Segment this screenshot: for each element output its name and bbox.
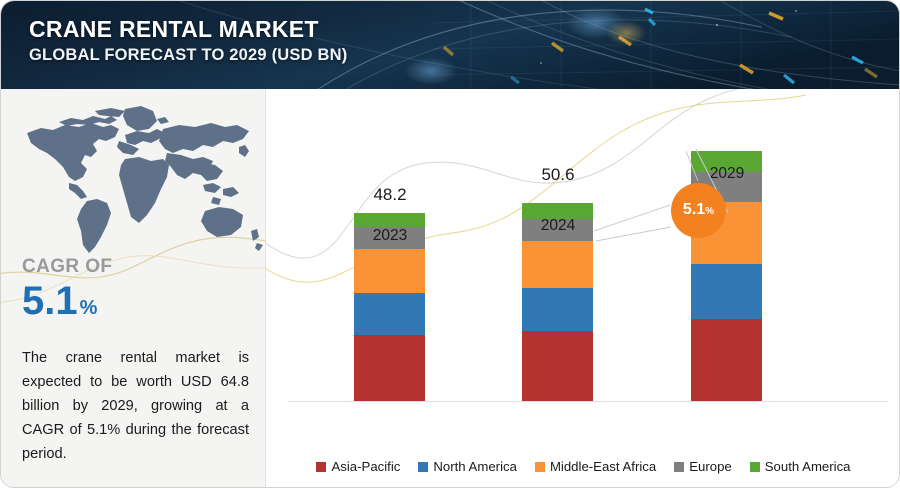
legend-item-north-america[interactable]: North America: [418, 459, 517, 474]
cagr-bubble-value: 5.1: [683, 201, 705, 218]
chart-legend: Asia-Pacific North America Middle-East A…: [266, 459, 900, 474]
legend-swatch-middle-east-africa: [535, 462, 545, 472]
legend-swatch-asia-pacific: [316, 462, 326, 472]
header-banner: CRANE RENTAL MARKET GLOBAL FORECAST TO 2…: [1, 1, 900, 89]
cagr-bubble-unit: %: [705, 206, 714, 217]
cagr-label: CAGR OF: [22, 256, 112, 278]
cagr-value-row: 5.1 %: [22, 279, 112, 323]
bar-segment-middle-east-africa-2024[interactable]: [522, 241, 593, 288]
legend-swatch-south-america: [750, 462, 760, 472]
infographic-frame: CRANE RENTAL MARKET GLOBAL FORECAST TO 2…: [0, 0, 900, 488]
bar-group-2024[interactable]: 50.6 2024: [522, 203, 593, 401]
legend-swatch-north-america: [418, 462, 428, 472]
bar-total-label-2024: 50.6: [503, 165, 613, 185]
cagr-value: 5.1: [22, 279, 78, 323]
bar-segment-asia-pacific-2023[interactable]: [354, 335, 425, 401]
cagr-bubble[interactable]: 5.1%: [671, 183, 726, 238]
x-axis-label-2024: 2024: [493, 217, 623, 235]
cagr-unit: %: [80, 297, 98, 320]
bar-segment-north-america-2023[interactable]: [354, 293, 425, 335]
legend-label-asia-pacific: Asia-Pacific: [331, 459, 400, 474]
legend-swatch-europe: [674, 462, 684, 472]
page-subtitle: GLOBAL FORECAST TO 2029 (USD BN): [29, 44, 347, 66]
cagr-bubble-text: 5.1%: [683, 202, 714, 220]
legend-label-europe: Europe: [689, 459, 732, 474]
stacked-bar-chart: 48.2 2023 50.6: [266, 89, 900, 488]
chart-panel: 48.2 2023 50.6: [266, 89, 900, 488]
page-title: CRANE RENTAL MARKET: [29, 15, 347, 43]
legend-item-europe[interactable]: Europe: [674, 459, 732, 474]
legend-label-middle-east-africa: Middle-East Africa: [550, 459, 656, 474]
legend-item-asia-pacific[interactable]: Asia-Pacific: [316, 459, 400, 474]
header-text-block: CRANE RENTAL MARKET GLOBAL FORECAST TO 2…: [29, 15, 347, 66]
body-area: CAGR OF 5.1 % The crane rental market is…: [1, 89, 900, 488]
bar-segment-north-america-2024[interactable]: [522, 288, 593, 331]
bar-total-label-2023: 48.2: [335, 185, 445, 205]
bar-segment-asia-pacific-2024[interactable]: [522, 331, 593, 401]
bar-group-2023[interactable]: 48.2 2023: [354, 213, 425, 401]
world-map-icon: [7, 103, 265, 253]
legend-item-middle-east-africa[interactable]: Middle-East Africa: [535, 459, 656, 474]
x-axis-label-2029: 2029: [662, 165, 792, 183]
market-description: The crane rental market is expected to b…: [22, 346, 249, 466]
legend-label-south-america: South America: [765, 459, 851, 474]
sidebar-panel: CAGR OF 5.1 % The crane rental market is…: [1, 89, 266, 488]
bar-segment-south-america-2023[interactable]: [354, 213, 425, 227]
x-axis-line: [288, 401, 888, 402]
bar-segment-asia-pacific-2029[interactable]: [691, 319, 762, 401]
x-axis-label-2023: 2023: [325, 227, 455, 245]
legend-item-south-america[interactable]: South America: [750, 459, 851, 474]
world-map-svg: [7, 103, 265, 253]
bar-segment-middle-east-africa-2023[interactable]: [354, 249, 425, 293]
cagr-block: CAGR OF 5.1 %: [22, 256, 112, 323]
bar-segment-north-america-2029[interactable]: [691, 264, 762, 319]
legend-label-north-america: North America: [433, 459, 517, 474]
